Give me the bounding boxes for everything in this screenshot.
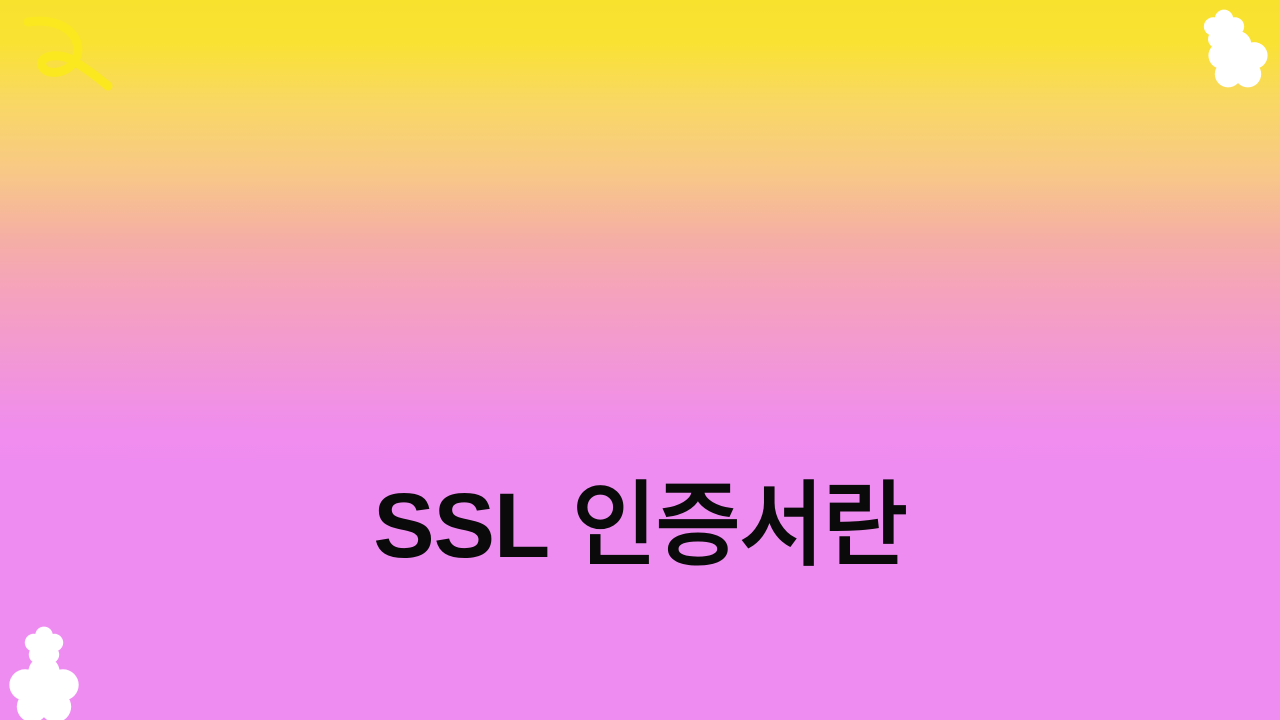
headline-line-1: SSL 인증서란 xyxy=(0,465,1280,588)
poster-canvas: SSL 인증서란 무엇이며 왜 필요한가요 xyxy=(0,0,1280,720)
flower-top-right-large-icon xyxy=(1207,30,1269,88)
page-title: SSL 인증서란 무엇이며 왜 필요한가요 xyxy=(0,218,1280,720)
flower-top-right-small-icon xyxy=(1203,8,1245,50)
squiggle-icon xyxy=(0,0,140,100)
